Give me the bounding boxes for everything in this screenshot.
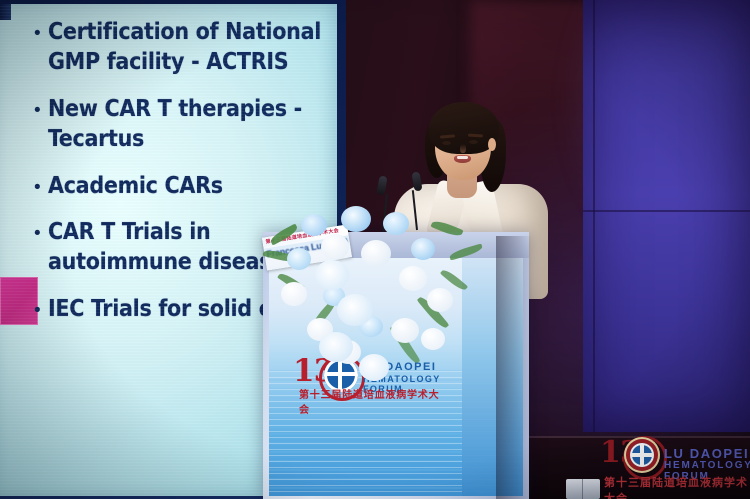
ear-right (488, 138, 496, 151)
floor-object (566, 479, 600, 499)
bullet-marker-icon: • (34, 231, 48, 237)
orchid (337, 294, 373, 326)
nose (460, 144, 466, 153)
list-item: • New CAR T therapies - Tecartus (34, 95, 334, 155)
bullet-text: Academic CARs (48, 172, 223, 202)
flower-white (281, 282, 307, 306)
flower-blue (301, 214, 327, 236)
podium-shadow (496, 236, 532, 499)
bullet-text: IEC Trials for solid c (48, 295, 271, 325)
podium-logo-chinese: 第十三届陆道培血液病学术大会 (299, 386, 449, 416)
leaf (430, 218, 463, 238)
flower-white (391, 318, 419, 343)
bullet-marker-icon: • (34, 31, 48, 37)
wall-conference-logo: 13TH LU DAOPEI HEMATOLOGY FORUM 第十三届陆道培血… (600, 432, 750, 490)
bullet-text: CAR T Trials in autoimmune diseas (48, 218, 271, 278)
wall-logo-chinese: 第十三届陆道培血液病学术大会 (604, 474, 750, 499)
eye-left (442, 141, 451, 145)
slide-accent-box (0, 277, 38, 325)
mouth (454, 155, 471, 163)
wall-logo-line1: LU DAOPEI (664, 446, 749, 461)
flower-white (321, 234, 349, 260)
leaf (449, 243, 484, 260)
wall-logo-seal-icon (624, 437, 660, 473)
eye-right (469, 140, 478, 144)
slide-corner-shadow (0, 4, 11, 20)
flower-white (427, 288, 453, 312)
bullet-marker-icon: • (34, 308, 48, 314)
wall-blue-panel (583, 0, 750, 432)
flower-blue (411, 238, 435, 260)
flower-blue (287, 248, 311, 270)
wall-panel-seam (583, 210, 750, 212)
orchid (319, 332, 353, 362)
orchid (315, 260, 349, 290)
flower-blue (341, 206, 371, 232)
flower-bouquet (263, 190, 493, 390)
flower-blue (383, 212, 409, 235)
conference-photo: • Certification of National GMP facility… (0, 0, 750, 499)
flower-white (361, 240, 391, 267)
mic-head (411, 171, 422, 191)
bullet-text: Certification of National GMP facility -… (48, 18, 321, 78)
list-item: • Certification of National GMP facility… (34, 18, 334, 78)
bullet-marker-icon: • (34, 185, 48, 191)
bullet-text: New CAR T therapies - Tecartus (48, 95, 302, 155)
orchid (359, 354, 389, 381)
bullet-marker-icon: • (34, 108, 48, 114)
flower-white (421, 328, 445, 350)
leaf (269, 223, 300, 245)
wall-logo-cross-icon (630, 443, 654, 467)
flower-white (399, 266, 427, 291)
